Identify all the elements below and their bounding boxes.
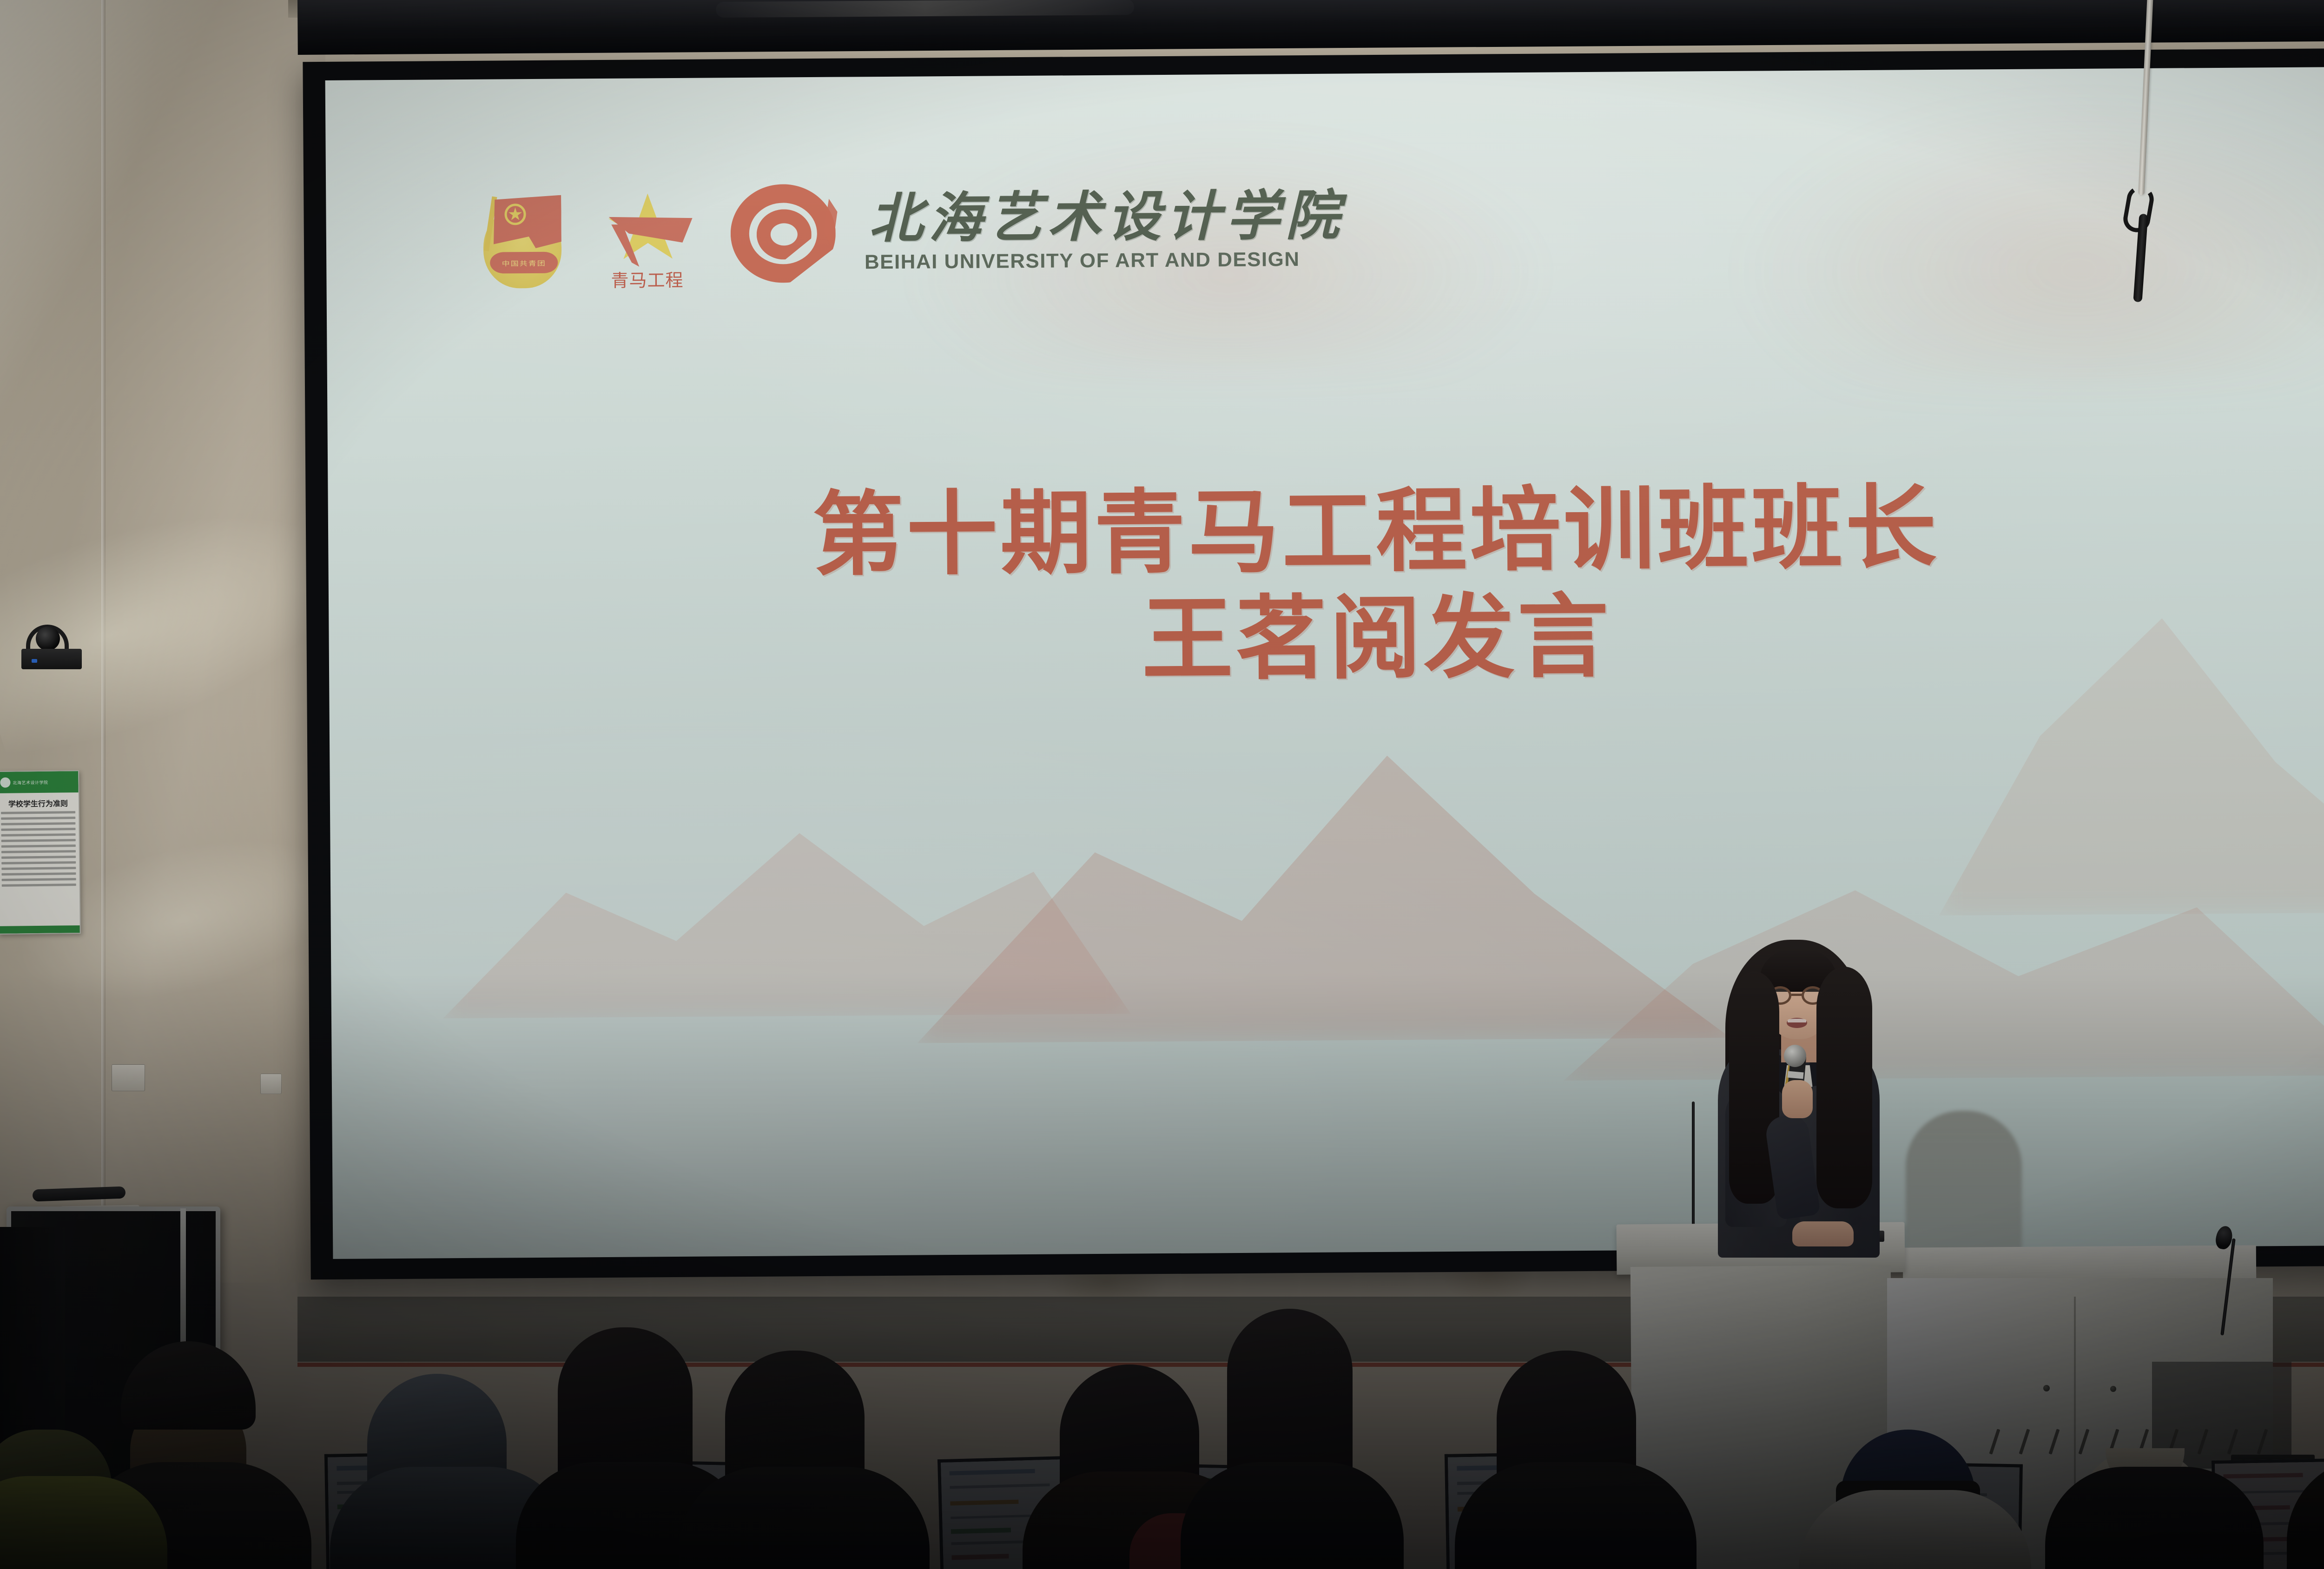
- cabinet-door-seam: [2074, 1297, 2076, 1501]
- projection-screen: 中国共青团 青马工程 北海艺术设计学院: [303, 48, 2324, 1279]
- poster-header: 北海艺术设计学院: [0, 771, 79, 793]
- flight-case-edge-trim: [180, 1208, 186, 1348]
- slide-title: 第十期青马工程培训班班长 王茗阅发言: [328, 475, 2324, 695]
- slide-title-line-1: 第十期青马工程培训班班长: [328, 475, 2324, 588]
- communist-youth-league-emblem-icon: 中国共青团: [479, 193, 568, 291]
- university-name-en: BEIHAI UNIVERSITY OF ART AND DESIGN: [865, 248, 1350, 274]
- university-name-cn: 北海艺术设计学院: [869, 189, 1345, 246]
- wall-switch-plate[interactable]: [112, 1064, 145, 1091]
- ceiling-microphone-stem: [1692, 1101, 1695, 1241]
- cabinet-lock-icon[interactable]: [2043, 1385, 2050, 1391]
- slide-title-line-2: 王茗阅发言: [329, 581, 2324, 695]
- microphone-head-icon: [1784, 1045, 1806, 1067]
- poster-footer-band: [0, 925, 80, 934]
- student-speaker: [1701, 930, 1896, 1283]
- university-logo-block: 北海艺术设计学院 BEIHAI UNIVERSITY OF ART AND DE…: [727, 174, 1346, 290]
- youth-league-banner-text: 中国共青团: [502, 258, 546, 268]
- poster-header-text: 北海艺术设计学院: [13, 779, 48, 785]
- slide-logo-row: 中国共青团 青马工程 北海艺术设计学院: [479, 183, 1345, 291]
- ptz-camera-icon: [21, 625, 82, 669]
- slide-surface: 中国共青团 青马工程 北海艺术设计学院: [325, 66, 2324, 1259]
- qingma-project-logo-icon: 青马工程: [587, 192, 708, 291]
- lecture-hall-photo: 北海艺术设计学院 学校学生行为准则: [0, 0, 2324, 1569]
- cabinet-lock-icon[interactable]: [2110, 1386, 2116, 1392]
- university-seal-icon: [0, 778, 10, 788]
- qingma-logo-label: 青马工程: [611, 266, 683, 292]
- wall-switch-plate-2[interactable]: [260, 1074, 282, 1094]
- poster-title: 学校学生行为准则: [0, 792, 79, 812]
- student-code-poster: 北海艺术设计学院 学校学生行为准则: [0, 770, 81, 935]
- beihai-university-swirl-icon: [727, 177, 854, 290]
- poster-body: [0, 811, 79, 887]
